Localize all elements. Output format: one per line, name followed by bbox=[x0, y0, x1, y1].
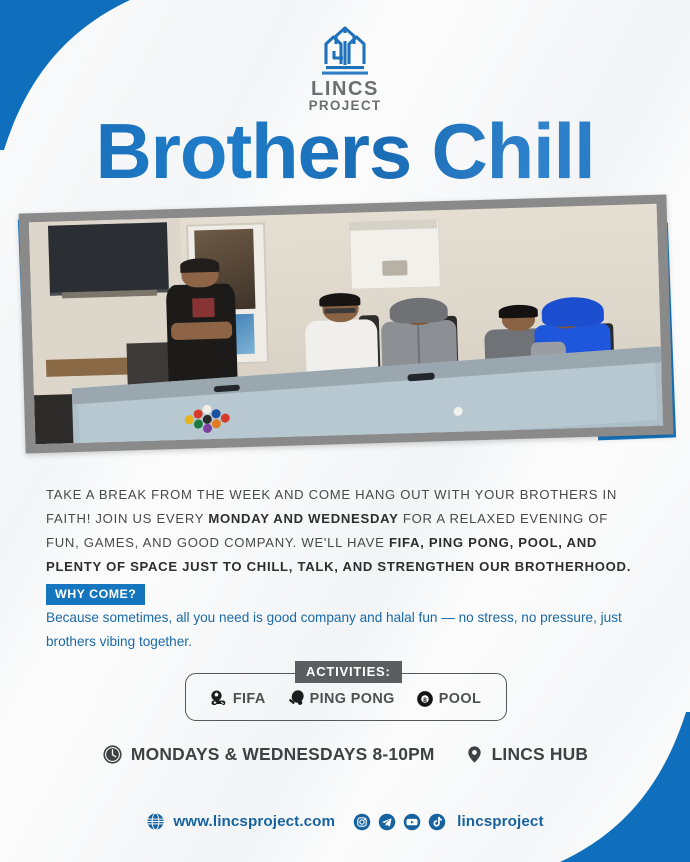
brand-name-line1: LINCS bbox=[311, 79, 379, 99]
hero-photo bbox=[29, 204, 663, 445]
description-paragraph: TAKE A BREAK FROM THE WEEK AND COME HANG… bbox=[46, 483, 644, 578]
telegram-icon[interactable] bbox=[378, 813, 396, 831]
why-come-text: Because sometimes, all you need is good … bbox=[46, 606, 646, 654]
activity-pool: 8 POOL bbox=[415, 689, 481, 709]
hero-photo-block bbox=[0, 196, 690, 454]
corner-decoration-bottom-right bbox=[530, 712, 690, 862]
clock-icon bbox=[102, 744, 123, 765]
event-location-label: LINCS HUB bbox=[492, 744, 588, 765]
event-time: MONDAYS & WEDNESDAYS 8-10PM bbox=[102, 744, 435, 765]
corner-bottom-right-icon bbox=[530, 712, 690, 862]
social-handle: lincsproject bbox=[457, 813, 543, 830]
youtube-icon[interactable] bbox=[403, 813, 421, 831]
activity-label-pool: POOL bbox=[439, 691, 481, 707]
svg-text:8: 8 bbox=[423, 697, 427, 704]
page-title: Brothers Chill bbox=[0, 112, 690, 190]
mosque-dome-icon bbox=[314, 24, 376, 76]
website-label: www.lincsproject.com bbox=[173, 813, 335, 830]
website-link[interactable]: www.lincsproject.com bbox=[146, 812, 335, 831]
copy-bold-days: MONDAY AND WEDNESDAY bbox=[208, 511, 398, 526]
event-time-label: MONDAYS & WEDNESDAYS 8-10PM bbox=[131, 744, 435, 765]
instagram-icon[interactable] bbox=[353, 813, 371, 831]
tiktok-icon[interactable] bbox=[428, 813, 446, 831]
photo-frame bbox=[19, 194, 674, 453]
globe-icon bbox=[146, 812, 165, 831]
activities-label: ACTIVITIES: bbox=[295, 661, 402, 683]
activity-label-fifa: FIFA bbox=[233, 691, 266, 707]
photo-tv bbox=[48, 223, 169, 296]
activity-fifa: FIFA bbox=[209, 689, 266, 709]
eight-ball-icon: 8 bbox=[415, 689, 435, 709]
social-links bbox=[353, 813, 446, 831]
brand-logo: LINCS PROJECT bbox=[0, 24, 690, 114]
poster-canvas: LINCS PROJECT Brothers Chill bbox=[0, 0, 690, 862]
activity-ping-pong: PING PONG bbox=[286, 689, 395, 709]
event-location: LINCS HUB bbox=[465, 744, 588, 765]
table-tennis-paddle-icon bbox=[286, 689, 306, 709]
football-gamepad-icon bbox=[209, 689, 229, 709]
footer-bar: www.lincsproject.com linc bbox=[0, 812, 690, 831]
why-come-badge: WHY COME? bbox=[46, 584, 145, 605]
map-pin-icon bbox=[465, 744, 484, 765]
activity-label-ping-pong: PING PONG bbox=[310, 691, 395, 707]
event-info-row: MONDAYS & WEDNESDAYS 8-10PM LINCS HUB bbox=[0, 744, 690, 765]
